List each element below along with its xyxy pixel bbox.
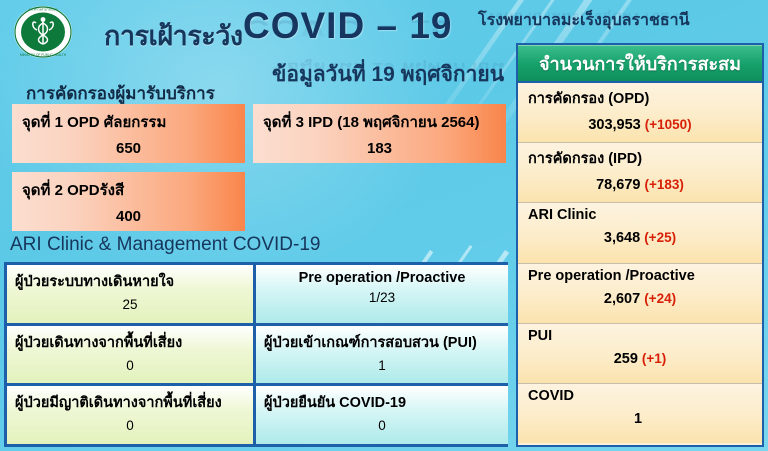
ari-clinic-table: ผู้ป่วยระบบทางเดินหายใจ 25 Pre operation… (4, 262, 508, 447)
cumulative-row-value-wrap: 78,679(+183) (528, 176, 752, 194)
data-date-label: ข้อมูลวันที่ 19 พฤศจิกายน (272, 58, 504, 91)
cumulative-row-pui: PUI 259(+1) (518, 324, 762, 384)
cumulative-row-value: 303,953 (588, 117, 640, 133)
cumulative-row-value-wrap: 2,607(+24) (528, 290, 752, 308)
svg-text:MINISTRY OF PUBLIC HEALTH: MINISTRY OF PUBLIC HEALTH (20, 53, 67, 57)
ari-cell-pre-operation-proactive: Pre operation /Proactive 1/23 (256, 265, 508, 323)
ari-cell-label: ผู้ป่วยมีญาติเดินทางจากพื้นที่เสี่ยง (15, 391, 245, 414)
cumulative-row-covid: COVID 1 (518, 384, 762, 443)
cumulative-row-value-wrap: 303,953(+1050) (528, 116, 752, 134)
ari-cell-value: 25 (15, 297, 245, 312)
ari-cell-label: ผู้ป่วยระบบทางเดินหายใจ (15, 270, 245, 293)
cumulative-row-value: 3,648 (604, 230, 640, 246)
cumulative-row-value: 259 (614, 351, 638, 367)
ari-cell-relative-travel-from-risk-area: ผู้ป่วยมีญาติเดินทางจากพื้นที่เสี่ยง 0 (7, 386, 253, 444)
cumulative-services-rows: การคัดกรอง (OPD) 303,953(+1050) การคัดกร… (518, 83, 762, 443)
screening-box-ipd: จุดที่ 3 IPD (18 พฤศจิกายน 2564) 183 (253, 104, 506, 163)
cumulative-row-pre-operation-proactive: Pre operation /Proactive 2,607(+24) (518, 264, 762, 324)
screening-box-label: จุดที่ 2 OPDรังสี (22, 178, 235, 202)
cumulative-row-value: 1 (634, 411, 642, 427)
ari-cell-label: ผู้ป่วยเข้าเกณฑ์การสอบสวน (PUI) (264, 331, 500, 354)
cumulative-row-ari-clinic: ARI Clinic 3,648(+25) (518, 203, 762, 263)
cumulative-services-panel: จำนวนการให้บริการสะสม การคัดกรอง (OPD) 3… (516, 45, 764, 447)
cumulative-row-label: ARI Clinic (528, 207, 752, 223)
cumulative-row-label: การคัดกรอง (OPD) (528, 87, 752, 110)
screening-box-label: จุดที่ 1 OPD ศัลยกรรม (22, 110, 235, 134)
ministry-of-public-health-logo-icon: กระทรวงสาธารณสุข MINISTRY OF PUBLIC HEAL… (12, 4, 74, 60)
ari-cell-respiratory-patients: ผู้ป่วยระบบทางเดินหายใจ 25 (7, 265, 253, 323)
ari-cell-label: Pre operation /Proactive (264, 270, 500, 286)
page-title-covid: COVID – 19 (243, 5, 452, 47)
ari-cell-value: 0 (15, 418, 245, 433)
screening-box-label: จุดที่ 3 IPD (18 พฤศจิกายน 2564) (263, 110, 496, 134)
ari-cell-value: 0 (15, 358, 245, 373)
cumulative-row-value-wrap: 3,648(+25) (528, 229, 752, 247)
cumulative-services-title: จำนวนการให้บริการสะสม (539, 49, 741, 78)
screening-box-opd-radiology: จุดที่ 2 OPDรังสี 400 (12, 172, 245, 231)
ari-cell-pui: ผู้ป่วยเข้าเกณฑ์การสอบสวน (PUI) 1 (256, 326, 508, 384)
cumulative-row-delta: (+1) (642, 351, 666, 366)
ari-section-heading: ARI Clinic & Management COVID-19 (10, 234, 320, 256)
ari-cell-label: ผู้ป่วยยืนยัน COVID-19 (264, 391, 500, 414)
cumulative-row-label: Pre operation /Proactive (528, 268, 752, 284)
screening-box-value: 650 (22, 140, 235, 157)
cumulative-row-delta: (+1050) (645, 117, 692, 132)
cumulative-row-label: PUI (528, 328, 752, 344)
ari-cell-confirmed-covid: ผู้ป่วยยืนยัน COVID-19 0 (256, 386, 508, 444)
page-title-thai: การเฝ้าระวัง (104, 14, 243, 57)
cumulative-row-value-wrap: 259(+1) (528, 350, 752, 368)
cumulative-row-delta: (+25) (644, 230, 676, 245)
cumulative-row-value: 2,607 (604, 291, 640, 307)
cumulative-row-value: 78,679 (596, 177, 640, 193)
cumulative-row-delta: (+183) (644, 177, 683, 192)
cumulative-row-label: การคัดกรอง (IPD) (528, 147, 752, 170)
cumulative-row-opd: การคัดกรอง (OPD) 303,953(+1050) (518, 83, 762, 143)
hospital-name: โรงพยาบาลมะเร็งอุบลราชธานี (478, 8, 690, 33)
cumulative-row-value-wrap: 1 (528, 410, 752, 428)
cumulative-row-ipd: การคัดกรอง (IPD) 78,679(+183) (518, 143, 762, 203)
ari-cell-value: 1/23 (264, 290, 500, 305)
cumulative-row-delta: (+24) (644, 291, 676, 306)
cumulative-row-label: COVID (528, 388, 752, 404)
ari-cell-travel-from-risk-area: ผู้ป่วยเดินทางจากพื้นที่เสี่ยง 0 (7, 326, 253, 384)
screening-box-opd-surgery: จุดที่ 1 OPD ศัลยกรรม 650 (12, 104, 245, 163)
screening-section-heading: การคัดกรองผู้มารับบริการ (26, 80, 215, 107)
ari-cell-label: ผู้ป่วยเดินทางจากพื้นที่เสี่ยง (15, 331, 245, 354)
cumulative-services-header: จำนวนการให้บริการสะสม (516, 43, 764, 83)
screening-box-value: 400 (22, 208, 235, 225)
screening-box-value: 183 (263, 140, 496, 157)
ari-cell-value: 1 (264, 358, 500, 373)
ari-cell-value: 0 (264, 418, 500, 433)
